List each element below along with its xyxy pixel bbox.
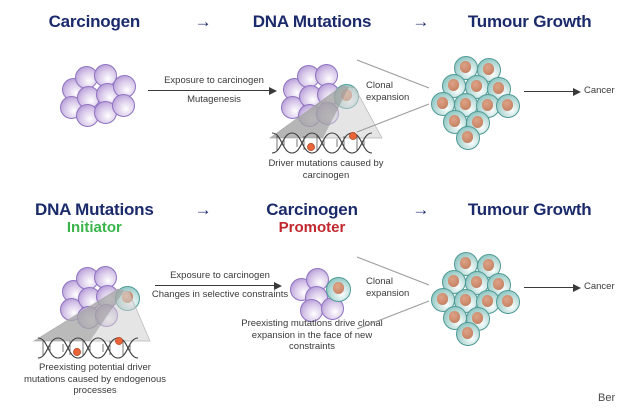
header-row-top: Carcinogen → DNA Mutations → Tumour Grow…	[20, 12, 604, 31]
cell-mutated	[326, 277, 351, 302]
outcome-label-cancer-top: Cancer	[584, 85, 624, 97]
header-sub-promoter: Promoter	[279, 220, 346, 237]
arrow-label-exposure-bottom: Exposure to carcinogen	[150, 270, 290, 282]
header-arrow-2-icon: →	[412, 200, 429, 219]
tumour-cell	[456, 322, 480, 346]
header-step-carcinogen: Carcinogen	[20, 12, 169, 31]
wedge-label-clonal-bottom: Clonal expansion	[366, 276, 426, 299]
header-step-dna-mutations: DNA Mutations Initiator	[20, 200, 169, 237]
outcome-label-cancer-bottom: Cancer	[584, 281, 624, 293]
wedge-label-line1: Clonal	[366, 276, 426, 288]
header-step-label: Tumour Growth	[468, 200, 592, 219]
tumour-cell	[496, 94, 520, 118]
header-step-label: Carcinogen	[266, 200, 358, 219]
corner-source-label: Ber	[598, 392, 615, 404]
header-step-dna-mutations: DNA Mutations	[238, 12, 387, 31]
header-row-bottom: DNA Mutations Initiator → Carcinogen Pro…	[20, 200, 604, 237]
arrow-label-mutagenesis: Mutagenesis	[144, 94, 284, 106]
tumour-mass-bottom	[430, 252, 522, 332]
header-step-label: DNA Mutations	[253, 12, 372, 31]
arrow-label-exposure-top: Exposure to carcinogen	[144, 75, 284, 87]
panel-mutations-first: DNA Mutations Initiator → Carcinogen Pro…	[0, 190, 624, 416]
header-arrow-2-icon: →	[412, 12, 429, 31]
wedge-label-line2: expansion	[366, 92, 426, 104]
dna-caption-top: Driver mutations caused by carcinogen	[256, 158, 396, 181]
header-arrow-1-icon: →	[195, 200, 212, 219]
cell-cluster-normal-top	[58, 62, 142, 128]
wedge-label-line1: Clonal	[366, 80, 426, 92]
header-step-tumour-growth: Tumour Growth	[455, 200, 604, 219]
arrow-label-selective-constraints: Changes in selective constraints	[150, 289, 290, 301]
dna-caption-bottom: Preexisting potential driver mutations c…	[20, 362, 170, 397]
mutation-dot	[307, 143, 314, 150]
mutation-dot	[115, 337, 122, 344]
header-step-label: Carcinogen	[49, 12, 141, 31]
header-step-label: Tumour Growth	[468, 12, 592, 31]
tumour-mass-top	[430, 56, 522, 136]
header-step-carcinogen: Carcinogen Promoter	[238, 200, 387, 237]
header-step-label: DNA Mutations	[35, 200, 154, 219]
header-arrow-1-icon: →	[195, 12, 212, 31]
cell	[112, 94, 135, 117]
header-step-tumour-growth: Tumour Growth	[455, 12, 604, 31]
dna-helix-bottom	[36, 335, 148, 361]
tumour-cell	[496, 290, 520, 314]
panel-carcinogen-first: Carcinogen → DNA Mutations → Tumour Grow…	[0, 0, 624, 190]
mutation-dot	[73, 348, 80, 355]
header-sub-initiator: Initiator	[67, 220, 122, 237]
tumour-cell	[456, 126, 480, 150]
wedge-label-line2: expansion	[366, 288, 426, 300]
wedge-label-clonal-top: Clonal expansion	[366, 80, 426, 103]
